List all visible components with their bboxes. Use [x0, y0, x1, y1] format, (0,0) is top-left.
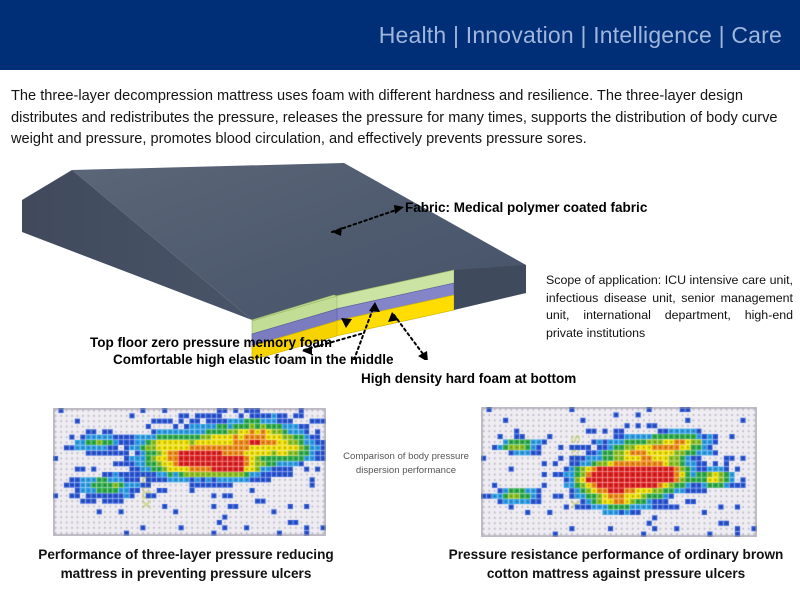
- callout-bottom-layer-label: High density hard foam at bottom: [361, 371, 576, 386]
- intro-paragraph: The three-layer decompression mattress u…: [11, 86, 789, 151]
- callout-top-layer-label: Top floor zero pressure memory foam: [90, 335, 332, 350]
- header-banner: Health | Innovation | Intelligence | Car…: [0, 0, 800, 70]
- header-title: Health | Innovation | Intelligence | Car…: [379, 22, 782, 49]
- pressure-map-brown-cotton-mattress: [481, 407, 757, 537]
- comparison-center-caption: Comparison of body pressure dispersion p…: [332, 450, 480, 477]
- callout-middle-layer-label: Comfortable high elastic foam in the mid…: [113, 352, 394, 367]
- mattress-diagram: [14, 160, 544, 360]
- mattress-fabric-right-face: [454, 265, 526, 310]
- callout-fabric-label: Fabric: Medical polymer coated fabric: [405, 200, 647, 215]
- pressure-map-left-canvas: [53, 408, 326, 536]
- pressure-map-three-layer-mattress: [53, 408, 326, 536]
- caption-left-figure: Performance of three-layer pressure redu…: [12, 545, 360, 583]
- pressure-map-right-canvas: [481, 407, 757, 537]
- caption-right-figure: Pressure resistance performance of ordin…: [441, 545, 791, 583]
- scope-of-application-text: Scope of application: ICU intensive care…: [546, 272, 793, 342]
- mattress-illustration-svg: [14, 160, 544, 360]
